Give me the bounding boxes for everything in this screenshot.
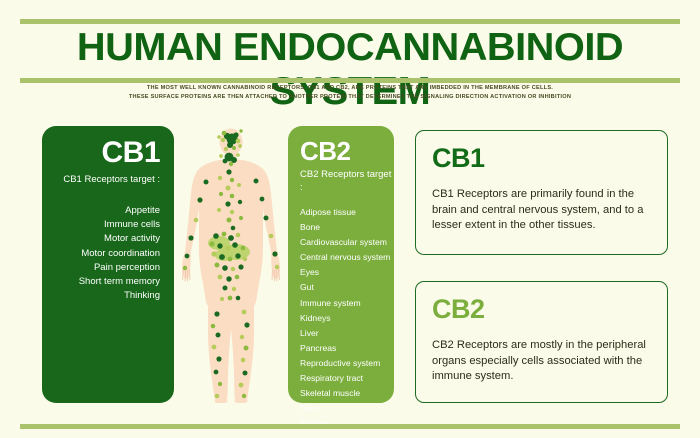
list-item: Appetite — [52, 204, 160, 218]
list-item: Respiratory tract — [300, 371, 394, 386]
body-silhouette — [182, 129, 280, 404]
subtitle-line-2: THESE SURFACE PROTEINS ARE THEN ATTACHED… — [120, 93, 580, 102]
list-item: Central nervous system — [300, 250, 394, 265]
list-item: Bone — [300, 220, 394, 235]
list-item: Pain perception — [52, 261, 160, 275]
human-body-figure — [172, 128, 290, 403]
list-item: Motor activity — [52, 232, 160, 246]
list-item: Skeletal muscle — [300, 386, 394, 401]
list-item: Cardiovascular system — [300, 235, 394, 250]
divider-rule-bottom — [20, 424, 680, 429]
list-item: Immune cells — [52, 218, 160, 232]
cb2-targets-panel: CB2 CB2 Receptors target : Adipose tissu… — [288, 126, 394, 403]
cb2-target-list: Adipose tissue Bone Cardiovascular syste… — [300, 205, 394, 431]
cb2-description-heading: CB2 — [432, 294, 651, 324]
divider-rule-middle — [20, 78, 680, 83]
cb2-panel-heading: CB2 — [300, 136, 394, 166]
list-item: Thinking — [52, 289, 160, 303]
subtitle-line-1: THE MOST WELL KNOWN CANNABINOID RECEPTOR… — [120, 84, 580, 93]
list-item: Reproductive system — [300, 356, 394, 371]
list-item: Eyes — [300, 265, 394, 280]
page-subtitle: THE MOST WELL KNOWN CANNABINOID RECEPTOR… — [120, 84, 580, 102]
list-item: Short term memory — [52, 275, 160, 289]
list-item: Skin — [300, 401, 394, 416]
list-item: Immune system — [300, 296, 394, 311]
list-item: Adipose tissue — [300, 205, 394, 220]
cb2-description-box: CB2 CB2 Receptors are mostly in the peri… — [415, 281, 668, 403]
cb1-panel-heading: CB1 — [52, 136, 164, 170]
cb1-panel-subheading: CB1 Receptors target : — [52, 173, 164, 186]
cb2-panel-subheading: CB2 Receptors target : — [300, 168, 394, 194]
cb2-description-body: CB2 Receptors are mostly in the peripher… — [432, 338, 651, 385]
list-item: Gut — [300, 280, 394, 295]
list-item: Motor coordination — [52, 247, 160, 261]
cb1-description-heading: CB1 — [432, 143, 651, 173]
cb1-targets-panel: CB1 CB1 Receptors target : Appetite Immu… — [42, 126, 174, 403]
list-item: Liver — [300, 326, 394, 341]
cb1-description-body: CB1 Receptors are primarily found in the… — [432, 187, 651, 234]
cb1-target-list: Appetite Immune cells Motor activity Mot… — [52, 204, 164, 303]
list-item: Kidneys — [300, 311, 394, 326]
infographic-page: HUMAN ENDOCANNABINOID SYSTEM THE MOST WE… — [0, 0, 700, 438]
cb1-description-box: CB1 CB1 Receptors are primarily found in… — [415, 130, 668, 255]
list-item: Pancreas — [300, 341, 394, 356]
divider-rule-top — [20, 19, 680, 24]
